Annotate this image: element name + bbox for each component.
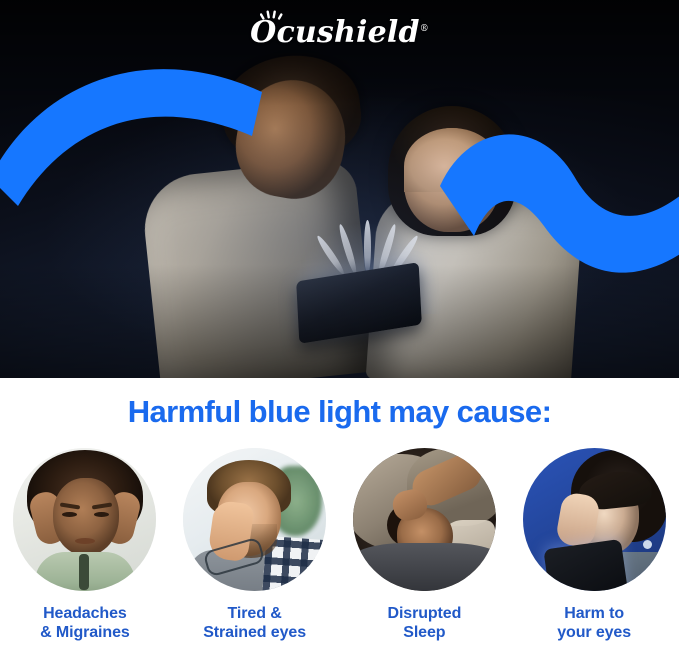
brand-logo: Ocushield® [0, 18, 679, 48]
harm-to-eyes-photo-art [523, 448, 666, 591]
hero-banner: Ocushield® [0, 0, 679, 378]
product-infographic: Ocushield® Harmful blue light may cause: [0, 0, 679, 661]
sun-rays-icon [260, 9, 286, 21]
wave-right [440, 134, 679, 272]
caption-line-1: Headaches [40, 605, 130, 624]
symptom-card-harm-to-eyes: Harm to your eyes [514, 448, 674, 643]
symptom-caption: Headaches & Migraines [40, 605, 130, 643]
headaches-photo-art [13, 448, 156, 591]
logo-wordmark: Ocushield® [250, 18, 429, 48]
registered-trademark: ® [420, 24, 429, 34]
smartphone [543, 539, 628, 591]
blanket [353, 543, 496, 591]
caption-line-1: Tired & [203, 605, 306, 624]
caption-line-1: Harm to [557, 605, 631, 624]
caption-line-2: & Migraines [40, 624, 130, 643]
panel-headline: Harmful blue light may cause: [0, 394, 679, 430]
wave-left [0, 69, 262, 206]
caption-line-2: Strained eyes [203, 624, 306, 643]
symptom-caption: Disrupted Sleep [387, 605, 461, 643]
blue-wave-graphic [0, 0, 679, 378]
face-shape [53, 478, 119, 556]
benefits-panel: Harmful blue light may cause: [0, 378, 679, 661]
disrupted-sleep-photo-art [353, 448, 496, 591]
symptom-caption: Tired & Strained eyes [203, 605, 306, 643]
symptom-caption: Harm to your eyes [557, 605, 631, 643]
collar [79, 554, 89, 590]
symptom-card-list: Headaches & Migraines [0, 448, 679, 643]
tired-strained-eyes-photo [183, 448, 326, 591]
symptom-card-tired-eyes: Tired & Strained eyes [175, 448, 335, 643]
tired-eyes-photo-art [183, 448, 326, 591]
caption-line-1: Disrupted [387, 605, 461, 624]
symptom-card-disrupted-sleep: Disrupted Sleep [344, 448, 504, 643]
light-dot [643, 540, 652, 549]
harm-to-your-eyes-photo [523, 448, 666, 591]
caption-line-2: Sleep [387, 624, 461, 643]
caption-line-2: your eyes [557, 624, 631, 643]
headaches-photo [13, 448, 156, 591]
disrupted-sleep-photo [353, 448, 496, 591]
symptom-card-headaches: Headaches & Migraines [5, 448, 165, 643]
